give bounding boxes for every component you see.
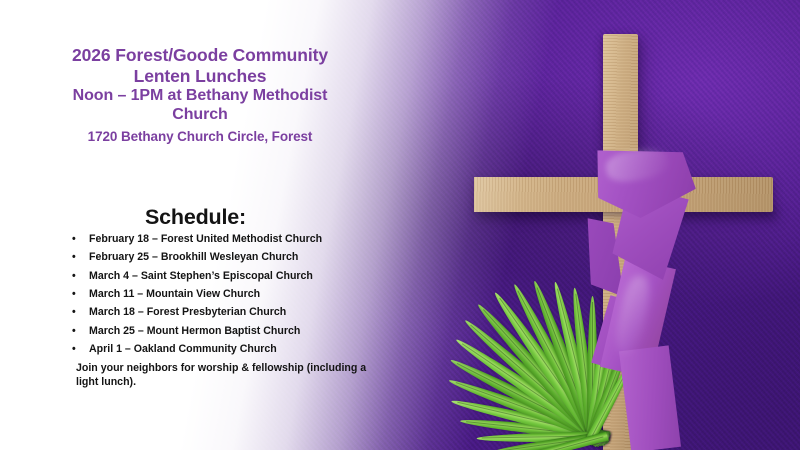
flyer-text-content: 2026 Forest/Goode Community Lenten Lunch… xyxy=(0,0,800,450)
schedule-item-text: March 18 – Forest Presbyterian Church xyxy=(89,306,286,318)
bullet-icon: • xyxy=(72,325,76,337)
list-item: • February 18 – Forest United Methodist … xyxy=(68,233,398,245)
schedule-list: • February 18 – Forest United Methodist … xyxy=(68,233,398,362)
venue-address: 1720 Bethany Church Circle, Forest xyxy=(18,129,382,145)
bullet-icon: • xyxy=(72,343,76,355)
subtitle-line-2: Church xyxy=(172,106,227,123)
schedule-item-text: April 1 – Oakland Community Church xyxy=(89,343,277,355)
title-block: 2026 Forest/Goode Community Lenten Lunch… xyxy=(18,45,382,145)
bullet-icon: • xyxy=(72,306,76,318)
lenten-lunches-flyer: 2026 Forest/Goode Community Lenten Lunch… xyxy=(0,0,800,450)
schedule-item-text: February 18 – Forest United Methodist Ch… xyxy=(89,233,322,245)
title-line-1: 2026 Forest/Goode Community xyxy=(72,45,328,65)
bullet-icon: • xyxy=(72,251,76,263)
subtitle-line-1: Noon – 1PM at Bethany Methodist xyxy=(73,87,328,104)
list-item: • March 25 – Mount Hermon Baptist Church xyxy=(68,325,398,337)
schedule-item-text: March 11 – Mountain View Church xyxy=(89,288,260,300)
bullet-icon: • xyxy=(72,270,76,282)
list-item: • March 11 – Mountain View Church xyxy=(68,288,398,300)
schedule-item-text: March 4 – Saint Stephen’s Episcopal Chur… xyxy=(89,270,313,282)
schedule-item-text: March 25 – Mount Hermon Baptist Church xyxy=(89,325,300,337)
list-item: • April 1 – Oakland Community Church xyxy=(68,343,398,355)
closing-note: Join your neighbors for worship & fellow… xyxy=(76,361,376,390)
list-item: • February 25 – Brookhill Wesleyan Churc… xyxy=(68,251,398,263)
bullet-icon: • xyxy=(72,233,76,245)
title-subtitle: Noon – 1PM at Bethany Methodist Church xyxy=(18,87,382,125)
list-item: • March 18 – Forest Presbyterian Church xyxy=(68,306,398,318)
bullet-icon: • xyxy=(72,288,76,300)
page-title: 2026 Forest/Goode Community Lenten Lunch… xyxy=(18,45,382,86)
title-line-2: Lenten Lunches xyxy=(134,66,267,86)
schedule-heading: Schedule: xyxy=(145,205,246,230)
schedule-item-text: February 25 – Brookhill Wesleyan Church xyxy=(89,251,298,263)
list-item: • March 4 – Saint Stephen’s Episcopal Ch… xyxy=(68,270,398,282)
